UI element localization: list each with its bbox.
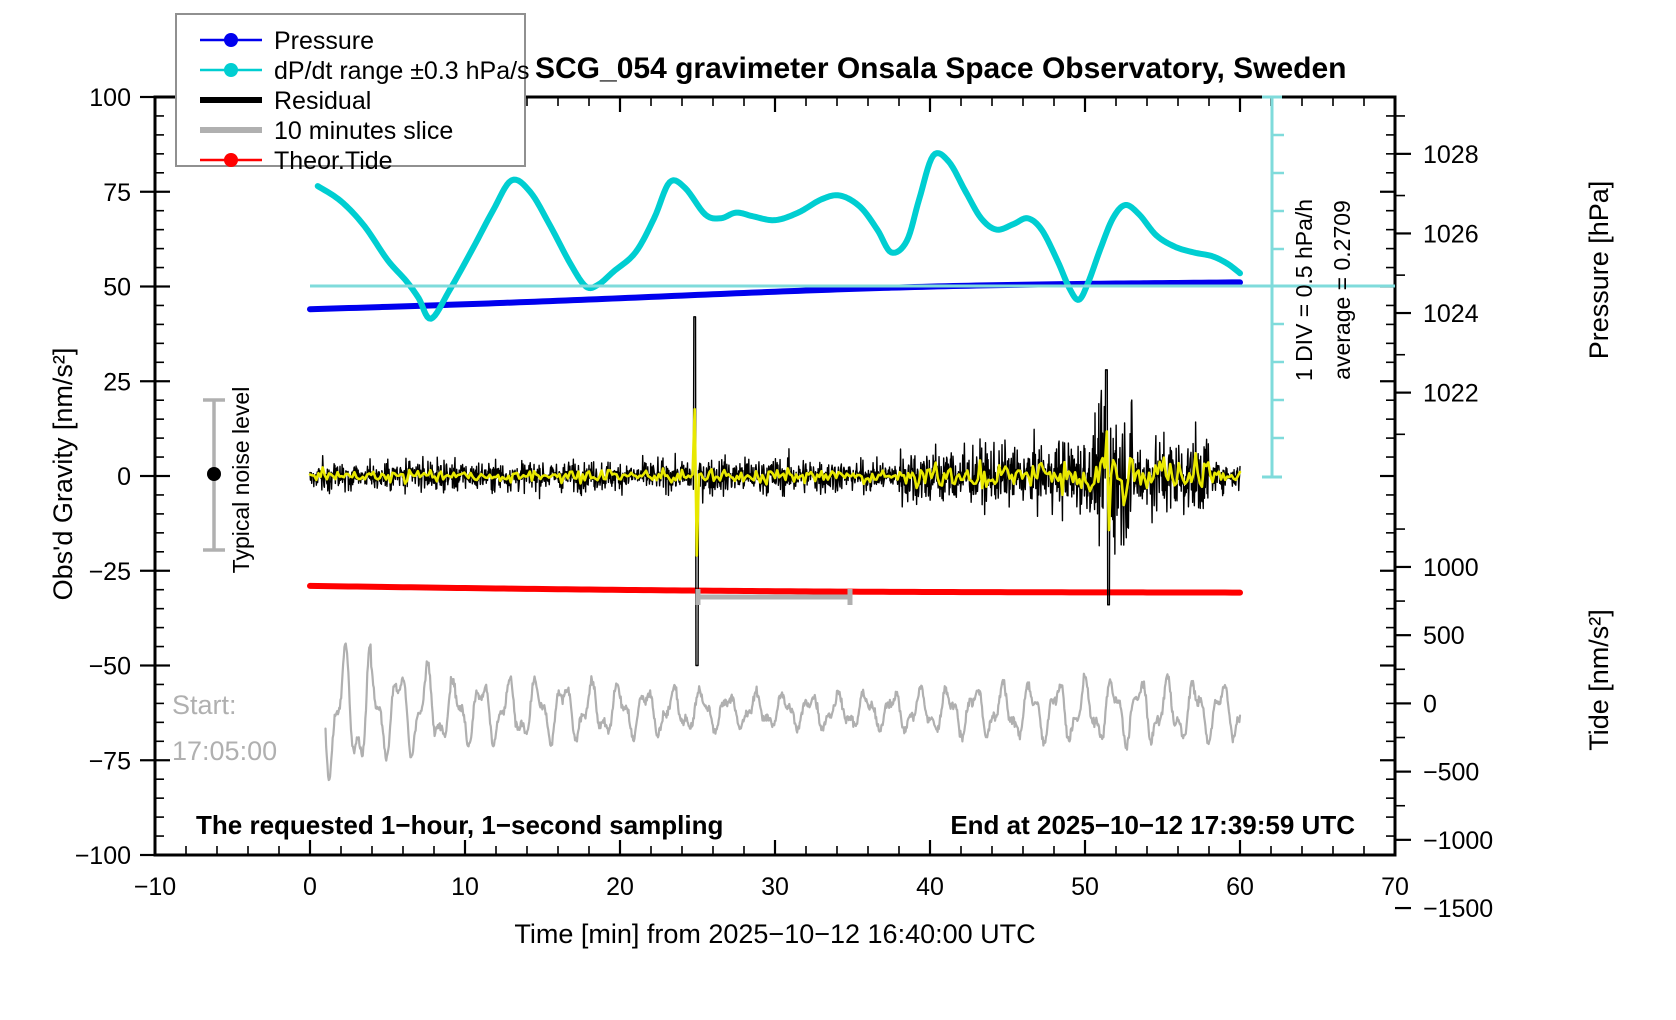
y-tick-label: 75: [103, 179, 131, 207]
x-tick-label: 70: [1381, 873, 1409, 901]
tide-tick-label: 1000: [1423, 554, 1479, 582]
x-tick-label: 10: [451, 873, 479, 901]
gravimeter-chart-page: −10010203040506070−100−75−50−25025507510…: [0, 0, 1676, 1020]
chart-canvas: −10010203040506070−100−75−50−25025507510…: [0, 0, 1676, 1020]
pressure-axis-title: Pressure [hPa]: [1584, 181, 1614, 360]
pressure-tick-label: 1028: [1423, 141, 1479, 169]
pressure-tick-label: 1022: [1423, 380, 1479, 408]
tide-tick-label: −500: [1423, 759, 1479, 787]
y-tick-label: −50: [89, 653, 131, 681]
pressure-tick-label: 1026: [1423, 220, 1479, 248]
start-label: Start:: [172, 690, 237, 720]
legend-label: Pressure: [274, 27, 374, 55]
x-tick-label: −10: [134, 873, 176, 901]
start-time: 17:05:00: [172, 736, 277, 766]
legend-marker: [224, 63, 238, 77]
typical-noise-level-label: Typical noise level: [228, 387, 254, 574]
div-scale-annotation: 1 DIV = 0.5 hPa/h: [1291, 199, 1317, 381]
footer-left-text: The requested 1−hour, 1−second sampling: [196, 810, 723, 840]
tide-tick-label: 500: [1423, 622, 1465, 650]
footer-right-text: End at 2025−10−12 17:39:59 UTC: [950, 810, 1355, 840]
legend-label: 10 minutes slice: [274, 117, 453, 145]
legend-label: Residual: [274, 87, 371, 115]
x-tick-label: 60: [1226, 873, 1254, 901]
typical-noise-level-errorbar: [203, 400, 225, 550]
y-tick-label: −25: [89, 558, 131, 586]
y-tick-label: −75: [89, 747, 131, 775]
tide-axis-title: Tide [nm/s²]: [1584, 609, 1614, 751]
legend-marker: [224, 153, 238, 167]
y-tick-label: 0: [117, 463, 131, 491]
tide-tick-label: 0: [1423, 690, 1437, 718]
y-tick-label: −100: [75, 842, 131, 870]
y-tick-label: 50: [103, 274, 131, 302]
x-tick-label: 0: [303, 873, 317, 901]
data-curves: [310, 153, 1240, 780]
tide-tick-label: −1500: [1423, 895, 1493, 923]
theoretical-tide-curve: [310, 586, 1240, 593]
y-tick-label: 25: [103, 368, 131, 396]
y-tick-label: 100: [89, 84, 131, 112]
ten-minute-slice-curve: [326, 644, 1241, 781]
x-tick-label: 30: [761, 873, 789, 901]
x-tick-label: 50: [1071, 873, 1099, 901]
residual-curve: [310, 317, 1240, 666]
x-tick-label: 40: [916, 873, 944, 901]
average-annotation: average = 0.2709: [1329, 200, 1355, 380]
pressure-tick-label: 1024: [1423, 300, 1479, 328]
legend-label: dP/dt range ±0.3 hPa/s: [274, 57, 530, 85]
tide-tick-label: −1000: [1423, 827, 1493, 855]
y-axis-title: Obs'd Gravity [nm/s²]: [48, 348, 78, 601]
legend-label: Theor.Tide: [274, 147, 393, 175]
legend-marker: [224, 33, 238, 47]
x-tick-label: 20: [606, 873, 634, 901]
page-title: SCG_054 gravimeter Onsala Space Observat…: [535, 52, 1347, 85]
x-axis-title: Time [min] from 2025−10−12 16:40:00 UTC: [514, 919, 1035, 949]
